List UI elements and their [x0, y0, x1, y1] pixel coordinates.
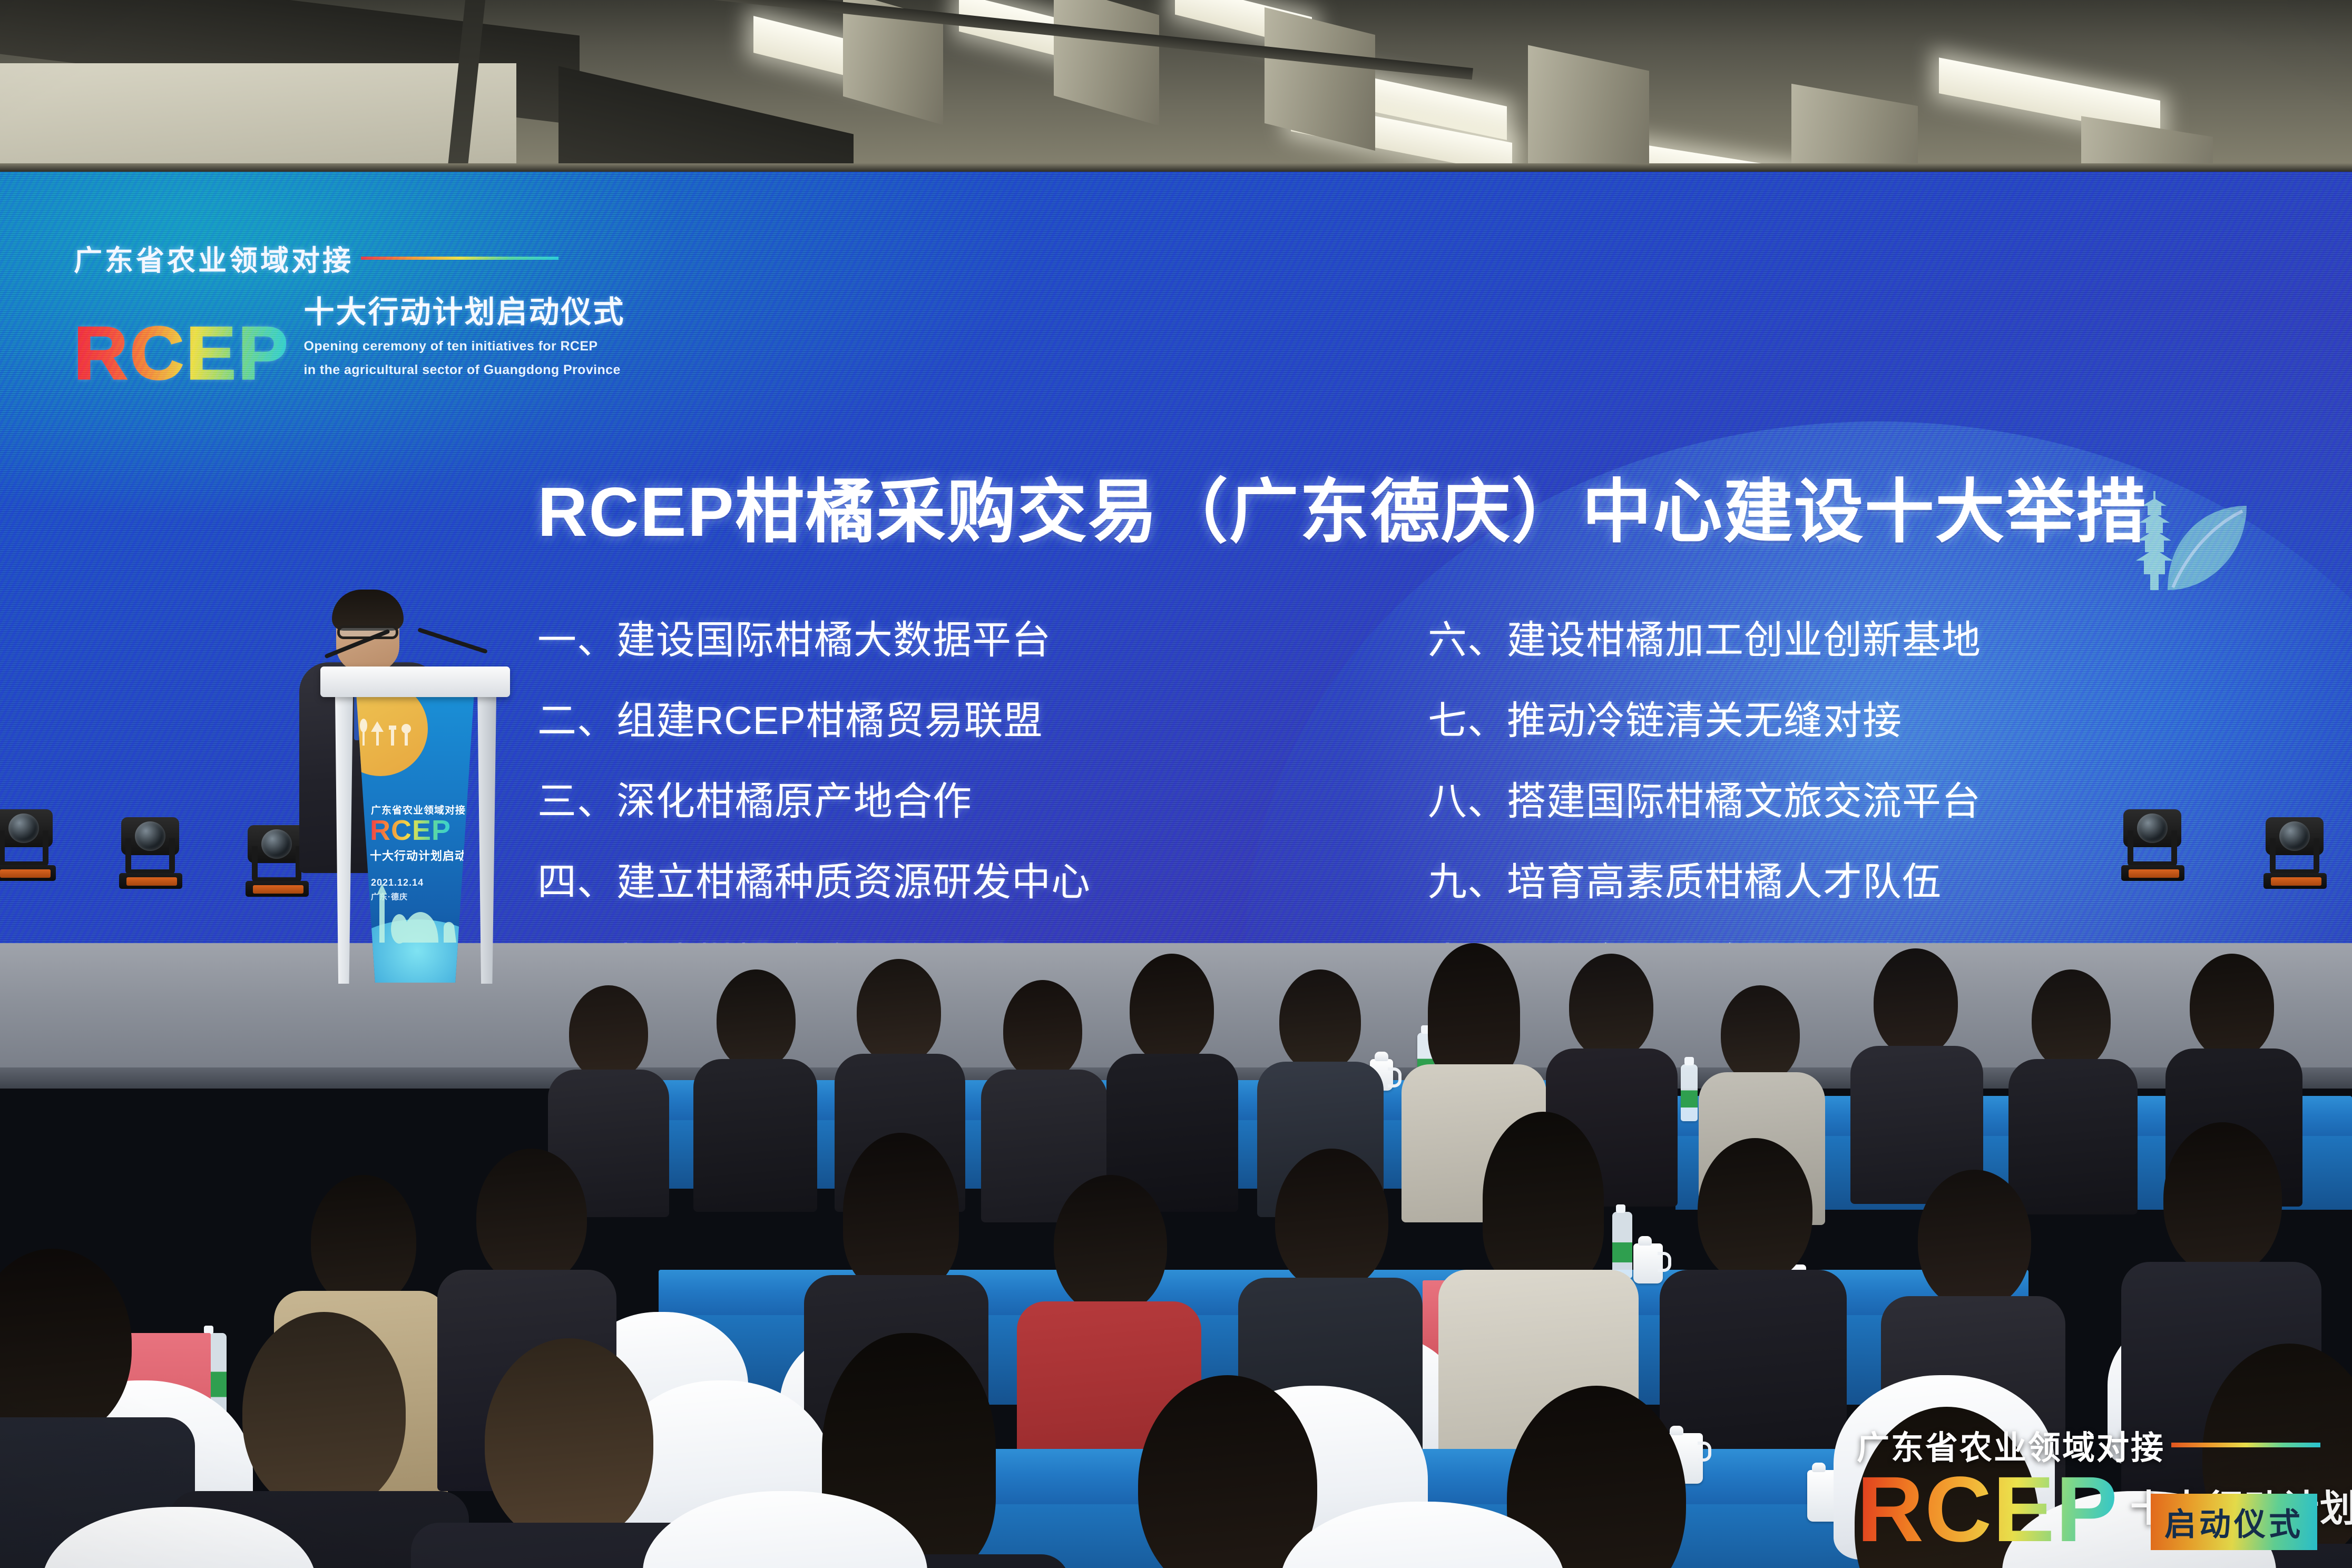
led-logo-line2: 十大行动计划启动仪式 — [304, 287, 625, 331]
city-skyline-icon — [361, 883, 472, 951]
watermark-rcep: RCEP — [1857, 1473, 2119, 1547]
led-initiative-columns: 一、建设国际柑橘大数据平台 二、组建RCEP柑橘贸易联盟 三、深化柑橘原产地合作… — [537, 609, 2118, 948]
podium-line2: 十大行动计划启动仪式 — [370, 847, 487, 864]
led-screen-top-edge — [0, 163, 2352, 172]
led-column-right: 六、建设柑橘加工创业创新基地 七、推动冷链清关无缝对接 八、搭建国际柑橘文旅交流… — [1428, 609, 1981, 948]
podium-rcep: RCEP — [370, 816, 451, 845]
podium-left-edge — [335, 696, 353, 984]
water-bottle — [1612, 1212, 1632, 1278]
water-bottle — [1681, 1064, 1698, 1121]
led-logo-line1: 广东省农业领域对接 — [74, 237, 354, 279]
led-list-item: 七、推动冷链清关无缝对接 — [1428, 689, 1981, 746]
led-slide-title: RCEP柑橘采购交易（广东德庆）中心建设十大举措 — [537, 456, 2147, 556]
podium-top-surface — [320, 667, 510, 697]
led-list-item: 六、建设柑橘加工创业创新基地 — [1428, 609, 1981, 665]
watermark-badge: 启动仪式 — [2151, 1494, 2317, 1550]
leaf-icon — [2152, 501, 2252, 601]
led-list-item: 四、建立柑橘种质资源研发中心 — [537, 850, 1091, 907]
speaker-hair — [332, 590, 404, 631]
podium-right-edge — [476, 696, 496, 984]
led-list-item: 二、组建RCEP柑橘贸易联盟 — [537, 689, 1091, 746]
ceiling-panel — [1265, 7, 1375, 151]
podium-front-panel: 广东省农业领域对接 RCEP 十大行动计划启动仪式 2021.12.14 广东·… — [344, 696, 487, 983]
led-event-logo: 广东省农业领域对接 RCEP 十大行动计划启动仪式 Opening ceremo… — [74, 237, 558, 384]
ceiling-panel — [1054, 0, 1159, 126]
podium: 广东省农业领域对接 RCEP 十大行动计划启动仪式 2021.12.14 广东·… — [320, 667, 510, 983]
tea-mug — [1633, 1243, 1663, 1283]
conference-photo-scene: 广东省农业领域对接 RCEP 十大行动计划启动仪式 Opening ceremo… — [0, 0, 2352, 1568]
wheat-skyline-icon — [358, 716, 422, 748]
led-list-item: 八、搭建国际柑橘文旅交流平台 — [1428, 770, 1981, 826]
led-logo-rainbow-rule — [361, 257, 558, 260]
led-logo-english-2: in the agricultural sector of Guangdong … — [304, 361, 625, 379]
led-logo-rcep: RCEP — [74, 323, 290, 384]
led-list-item: 一、建设国际柑橘大数据平台 — [537, 609, 1091, 665]
led-list-item: 三、深化柑橘原产地合作 — [537, 770, 1091, 826]
watermark-rainbow-rule — [2171, 1443, 2320, 1447]
led-logo-english-1: Opening ceremony of ten initiatives for … — [304, 338, 625, 355]
led-column-left: 一、建设国际柑橘大数据平台 二、组建RCEP柑橘贸易联盟 三、深化柑橘原产地合作… — [537, 609, 1091, 948]
watermark-logo: 广东省农业领域对接 RCEP 十大行动计划 启动仪式 — [1857, 1421, 2320, 1547]
led-list-item: 九、培育高素质柑橘人才队伍 — [1428, 850, 1981, 907]
